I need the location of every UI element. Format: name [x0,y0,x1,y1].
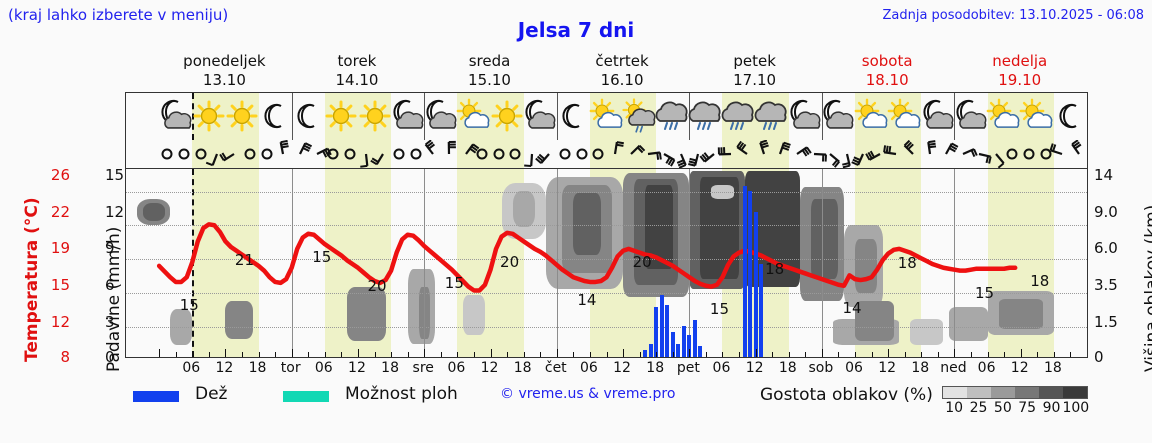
showers-legend-swatch [283,391,329,402]
axis-minor-tick [292,349,293,357]
rain-legend-swatch [133,391,179,402]
meteogram-plot: 152115201520142015181418151816 [125,168,1088,358]
axis-minor-tick [1021,349,1022,357]
axis-minor-tick [457,352,458,357]
axis-minor-tick [491,349,492,357]
day-name: petek [688,52,821,71]
axis-minor-tick [954,349,955,357]
axis-minor-tick [209,352,210,357]
x-tick-label: 12 [215,360,233,376]
cloud-density-swatch-100 [1063,387,1087,398]
showers-legend-label: Možnost ploh [345,384,458,404]
precipitation-tick: 6 [105,276,115,294]
day-name: nedelja [953,52,1086,71]
cloud-density-colorbar [942,386,1088,399]
cloud-height-tick: 0 [1094,348,1104,366]
axis-minor-tick [275,352,276,357]
x-tick-label: 06 [315,360,333,376]
x-tick-label: 06 [182,360,200,376]
wind-barb [1059,140,1088,168]
day-date: 14.10 [291,71,424,90]
axis-minor-tick [607,352,608,357]
axis-minor-tick [225,349,226,357]
axis-minor-tick [1004,352,1005,357]
axis-minor-tick [838,352,839,357]
axis-minor-tick [855,352,856,357]
copyright-link[interactable]: © vreme.us & vreme.pro [500,386,675,402]
axis-minor-tick [176,352,177,357]
x-tick-label: 12 [746,360,764,376]
x-tick-label: tor [281,360,301,376]
cloud-density-tick: 10 [945,400,963,416]
axis-minor-tick [325,352,326,357]
x-tick-label: čet [545,360,567,376]
day-header-nedelja: nedelja19.10 [953,52,1086,90]
x-tick-label: 18 [911,360,929,376]
precipitation-tick: 3 [105,313,115,331]
day-header-četrtek: četrtek16.10 [556,52,689,90]
axis-minor-tick [656,352,657,357]
axis-minor-tick [441,352,442,357]
cloud-density-tick: 100 [1062,400,1089,416]
axis-minor-tick [358,349,359,357]
x-tick-label: 12 [1011,360,1029,376]
x-axis-ticks: 061218tor061218sre061218čet061218pet0612… [125,360,1088,380]
chart-legend: Dež Možnost ploh © vreme.us & vreme.pro … [0,384,1152,424]
x-tick-label: ned [940,360,966,376]
rain-legend-label: Dež [195,384,227,404]
x-tick-label: 12 [348,360,366,376]
axis-minor-tick [706,352,707,357]
temperature-tick: 26 [0,166,70,184]
day-date: 15.10 [423,71,556,90]
axis-minor-tick [590,352,591,357]
x-tick-label: 12 [613,360,631,376]
axis-minor-tick [1054,352,1055,357]
x-tick-label: 06 [447,360,465,376]
axis-minor-tick [971,352,972,357]
x-tick-label: sre [413,360,434,376]
axis-minor-tick [573,352,574,357]
last-update: Zadnja posodobitev: 13.10.2025 - 06:08 [882,8,1144,23]
temperature-tick: 8 [0,348,70,366]
temperature-tick: 12 [0,313,70,331]
axis-minor-tick [192,352,193,357]
weather-icon-row [125,92,1088,140]
day-date: 19.10 [953,71,1086,90]
cloud-density-swatch-10 [943,387,967,398]
cloud-height-tick: 14 [1094,166,1113,184]
x-tick-label: 18 [646,360,664,376]
x-tick-label: 18 [1044,360,1062,376]
axis-minor-tick [507,352,508,357]
cloud-density-swatch-90 [1039,387,1063,398]
x-tick-label: 06 [845,360,863,376]
cloud-density-legend-label: Gostota oblakov (%) [760,385,933,405]
precipitation-tick: 12 [105,203,124,221]
precipitation-tick: 9 [105,239,115,257]
axis-minor-tick [1070,352,1071,357]
axis-minor-tick [375,352,376,357]
cloud-density-swatch-25 [967,387,991,398]
axis-minor-tick [905,352,906,357]
axis-minor-tick [391,352,392,357]
axis-minor-tick [623,349,624,357]
axis-minor-tick [673,352,674,357]
axis-minor-tick [308,352,309,357]
axis-minor-tick [888,349,889,357]
axis-minor-tick [1087,349,1088,357]
axis-minor-tick [689,349,690,357]
temperature-tick: 19 [0,239,70,257]
day-name: sreda [423,52,556,71]
axis-minor-tick [756,349,757,357]
axis-minor-tick [722,352,723,357]
x-tick-label: 06 [978,360,996,376]
axis-minor-tick [242,352,243,357]
cloud-height-tick: 9.0 [1094,203,1118,221]
axis-minor-tick [988,352,989,357]
temperature-tick: 22 [0,203,70,221]
day-date: 17.10 [688,71,821,90]
day-name: četrtek [556,52,689,71]
axis-minor-tick [540,352,541,357]
axis-minor-tick [789,352,790,357]
x-tick-label: 18 [249,360,267,376]
axis-minor-tick [474,352,475,357]
temperature-tick: 15 [0,276,70,294]
x-tick-label: 12 [481,360,499,376]
axis-minor-tick [805,352,806,357]
axis-minor-tick [822,349,823,357]
day-name: sobota [821,52,954,71]
axis-minor-tick [921,352,922,357]
day-name: ponedeljek [158,52,291,71]
day-header-torek: torek14.10 [291,52,424,90]
cloud-density-tick: 75 [1018,400,1036,416]
day-date: 18.10 [821,71,954,90]
x-tick-label: 06 [713,360,731,376]
axis-minor-tick [1037,352,1038,357]
x-tick-label: 12 [878,360,896,376]
day-header-sreda: sreda15.10 [423,52,556,90]
x-tick-label: sob [809,360,834,376]
axis-minor-tick [524,352,525,357]
axis-minor-tick [259,352,260,357]
axis-minor-tick [772,352,773,357]
axis-minor-tick [557,349,558,357]
precipitation-tick: 0 [105,348,115,366]
day-header-row: ponedeljek13.10torek14.10sreda15.10četrt… [125,52,1088,92]
day-header-petek: petek17.10 [688,52,821,90]
x-tick-label: 18 [514,360,532,376]
x-tick-label: 18 [779,360,797,376]
day-header-ponedeljek: ponedeljek13.10 [158,52,291,90]
cloud-density-swatch-50 [991,387,1015,398]
cloud-density-tick: 90 [1043,400,1061,416]
x-tick-label: 06 [580,360,598,376]
axis-minor-tick [341,352,342,357]
x-tick-label: 18 [381,360,399,376]
axis-minor-tick [739,352,740,357]
x-tick-label: pet [677,360,700,376]
axis-minor-tick [872,352,873,357]
moon-icon [1050,97,1088,137]
day-date: 13.10 [158,71,291,90]
axis-minor-tick [159,349,160,357]
precipitation-tick: 15 [105,166,124,184]
cloud-density-tick: 25 [970,400,988,416]
cloud-height-tick: 1.5 [1094,313,1118,331]
cloud-height-tick: 3.5 [1094,276,1118,294]
day-header-sobota: sobota18.10 [821,52,954,90]
cloud-density-tick: 50 [994,400,1012,416]
axis-minor-tick [938,352,939,357]
axis-minor-tick [424,349,425,357]
axis-minor-tick [408,352,409,357]
cloud-density-swatch-75 [1015,387,1039,398]
axis-minor-tick [640,352,641,357]
day-date: 16.10 [556,71,689,90]
cloud-height-tick: 6.0 [1094,239,1118,257]
day-name: torek [291,52,424,71]
wind-barb-row [125,140,1088,168]
cloud-height-axis-title: Višina oblakov (km) [1142,205,1152,372]
